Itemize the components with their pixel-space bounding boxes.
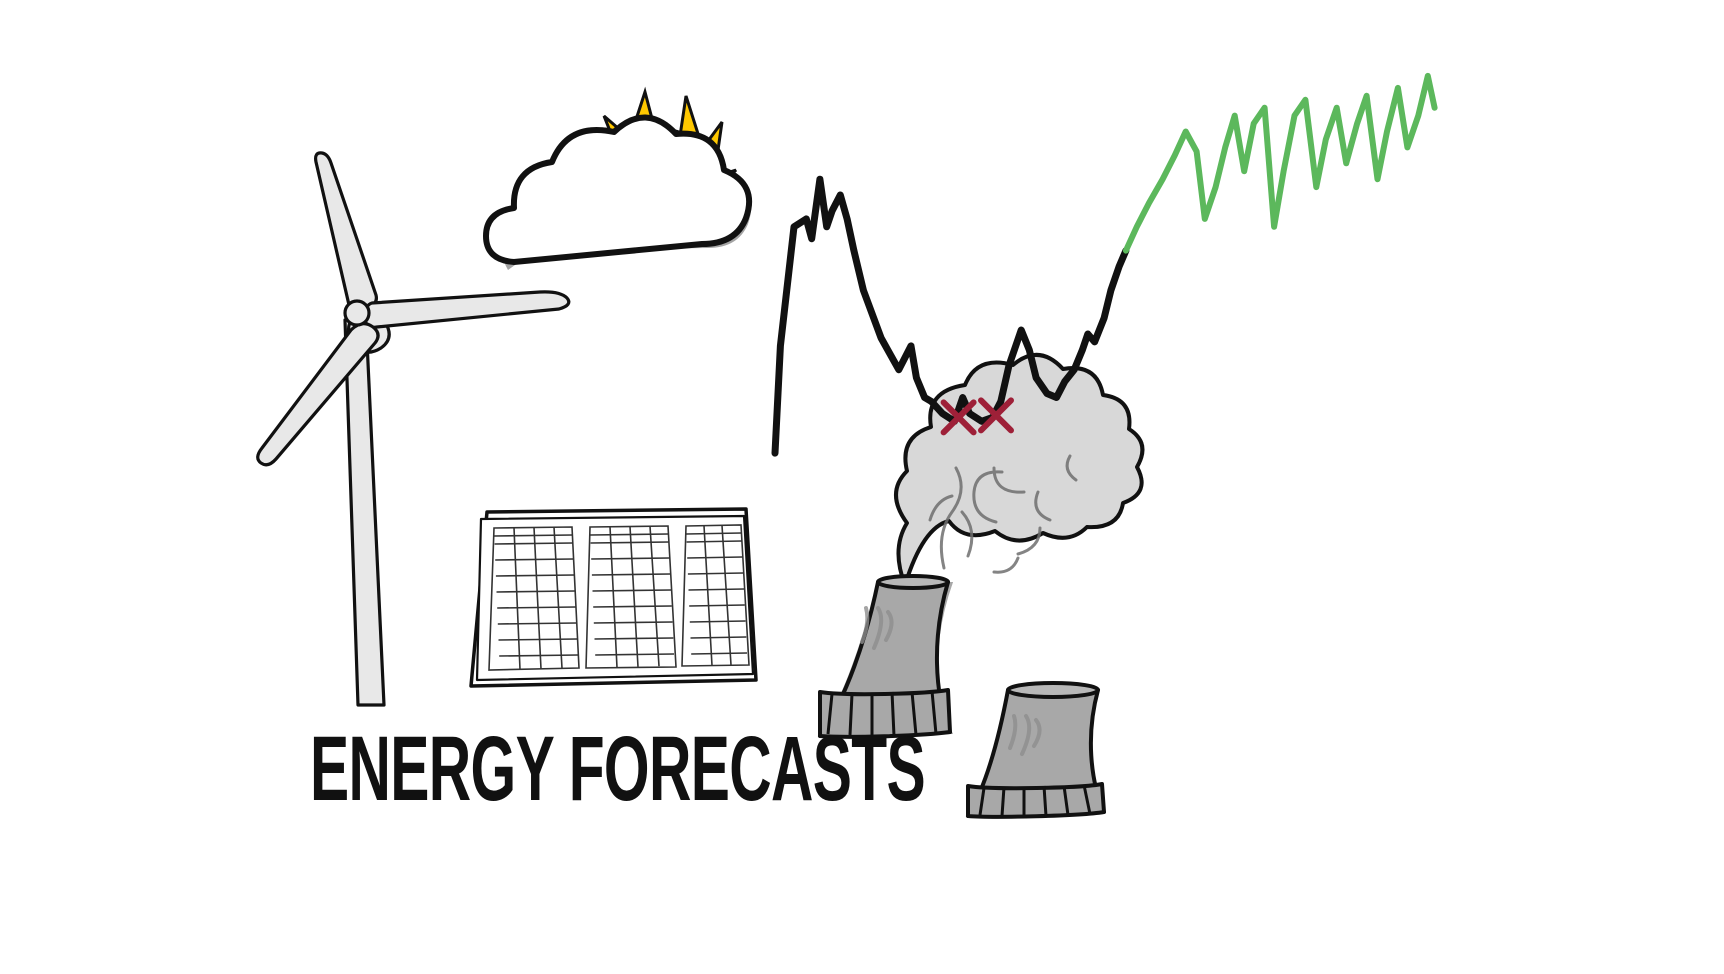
smoke-plume	[896, 355, 1142, 585]
wind-turbine	[0, 0, 1724, 974]
forecast-line	[1126, 76, 1435, 251]
illustration-canvas: ENERGY FORECASTS	[0, 0, 1724, 974]
cooling-tower-1	[818, 576, 953, 737]
cooling-towers-group	[0, 0, 1724, 974]
history-line	[775, 179, 1126, 453]
cloud-body	[486, 117, 749, 262]
tower-2-shading	[1010, 716, 1040, 754]
tower-1-shading	[862, 608, 892, 648]
turbine-blade-upper	[316, 153, 377, 309]
smoke-inner-swirls	[930, 456, 1076, 572]
cloud-shadow	[502, 134, 751, 270]
tower-2-base-hatch	[980, 785, 1090, 816]
sun-disc	[610, 130, 714, 234]
turbine-blade-right	[365, 292, 569, 327]
x-marks-group	[944, 400, 1011, 432]
cooling-tower-2	[968, 683, 1104, 817]
x-mark	[981, 400, 1011, 430]
tower-1-base-hatch	[828, 691, 936, 736]
solar-panel-cells	[489, 525, 749, 670]
page-title-svg: ENERGY FORECASTS	[0, 0, 1724, 974]
turbine-hub	[345, 301, 369, 325]
sun-cloud-icon	[0, 0, 1724, 974]
x-mark	[944, 402, 974, 432]
sun-rays	[576, 92, 736, 224]
chart-plot-area	[775, 76, 1435, 453]
energy-forecast-chart	[0, 0, 1724, 974]
turbine-tower	[345, 320, 384, 705]
turbine-nacelle	[348, 311, 389, 352]
solar-panel	[0, 0, 1724, 974]
turbine-blade-lower-left	[258, 324, 378, 465]
solar-panel-frame	[471, 509, 756, 686]
page-title: ENERGY FORECASTS	[310, 718, 925, 820]
